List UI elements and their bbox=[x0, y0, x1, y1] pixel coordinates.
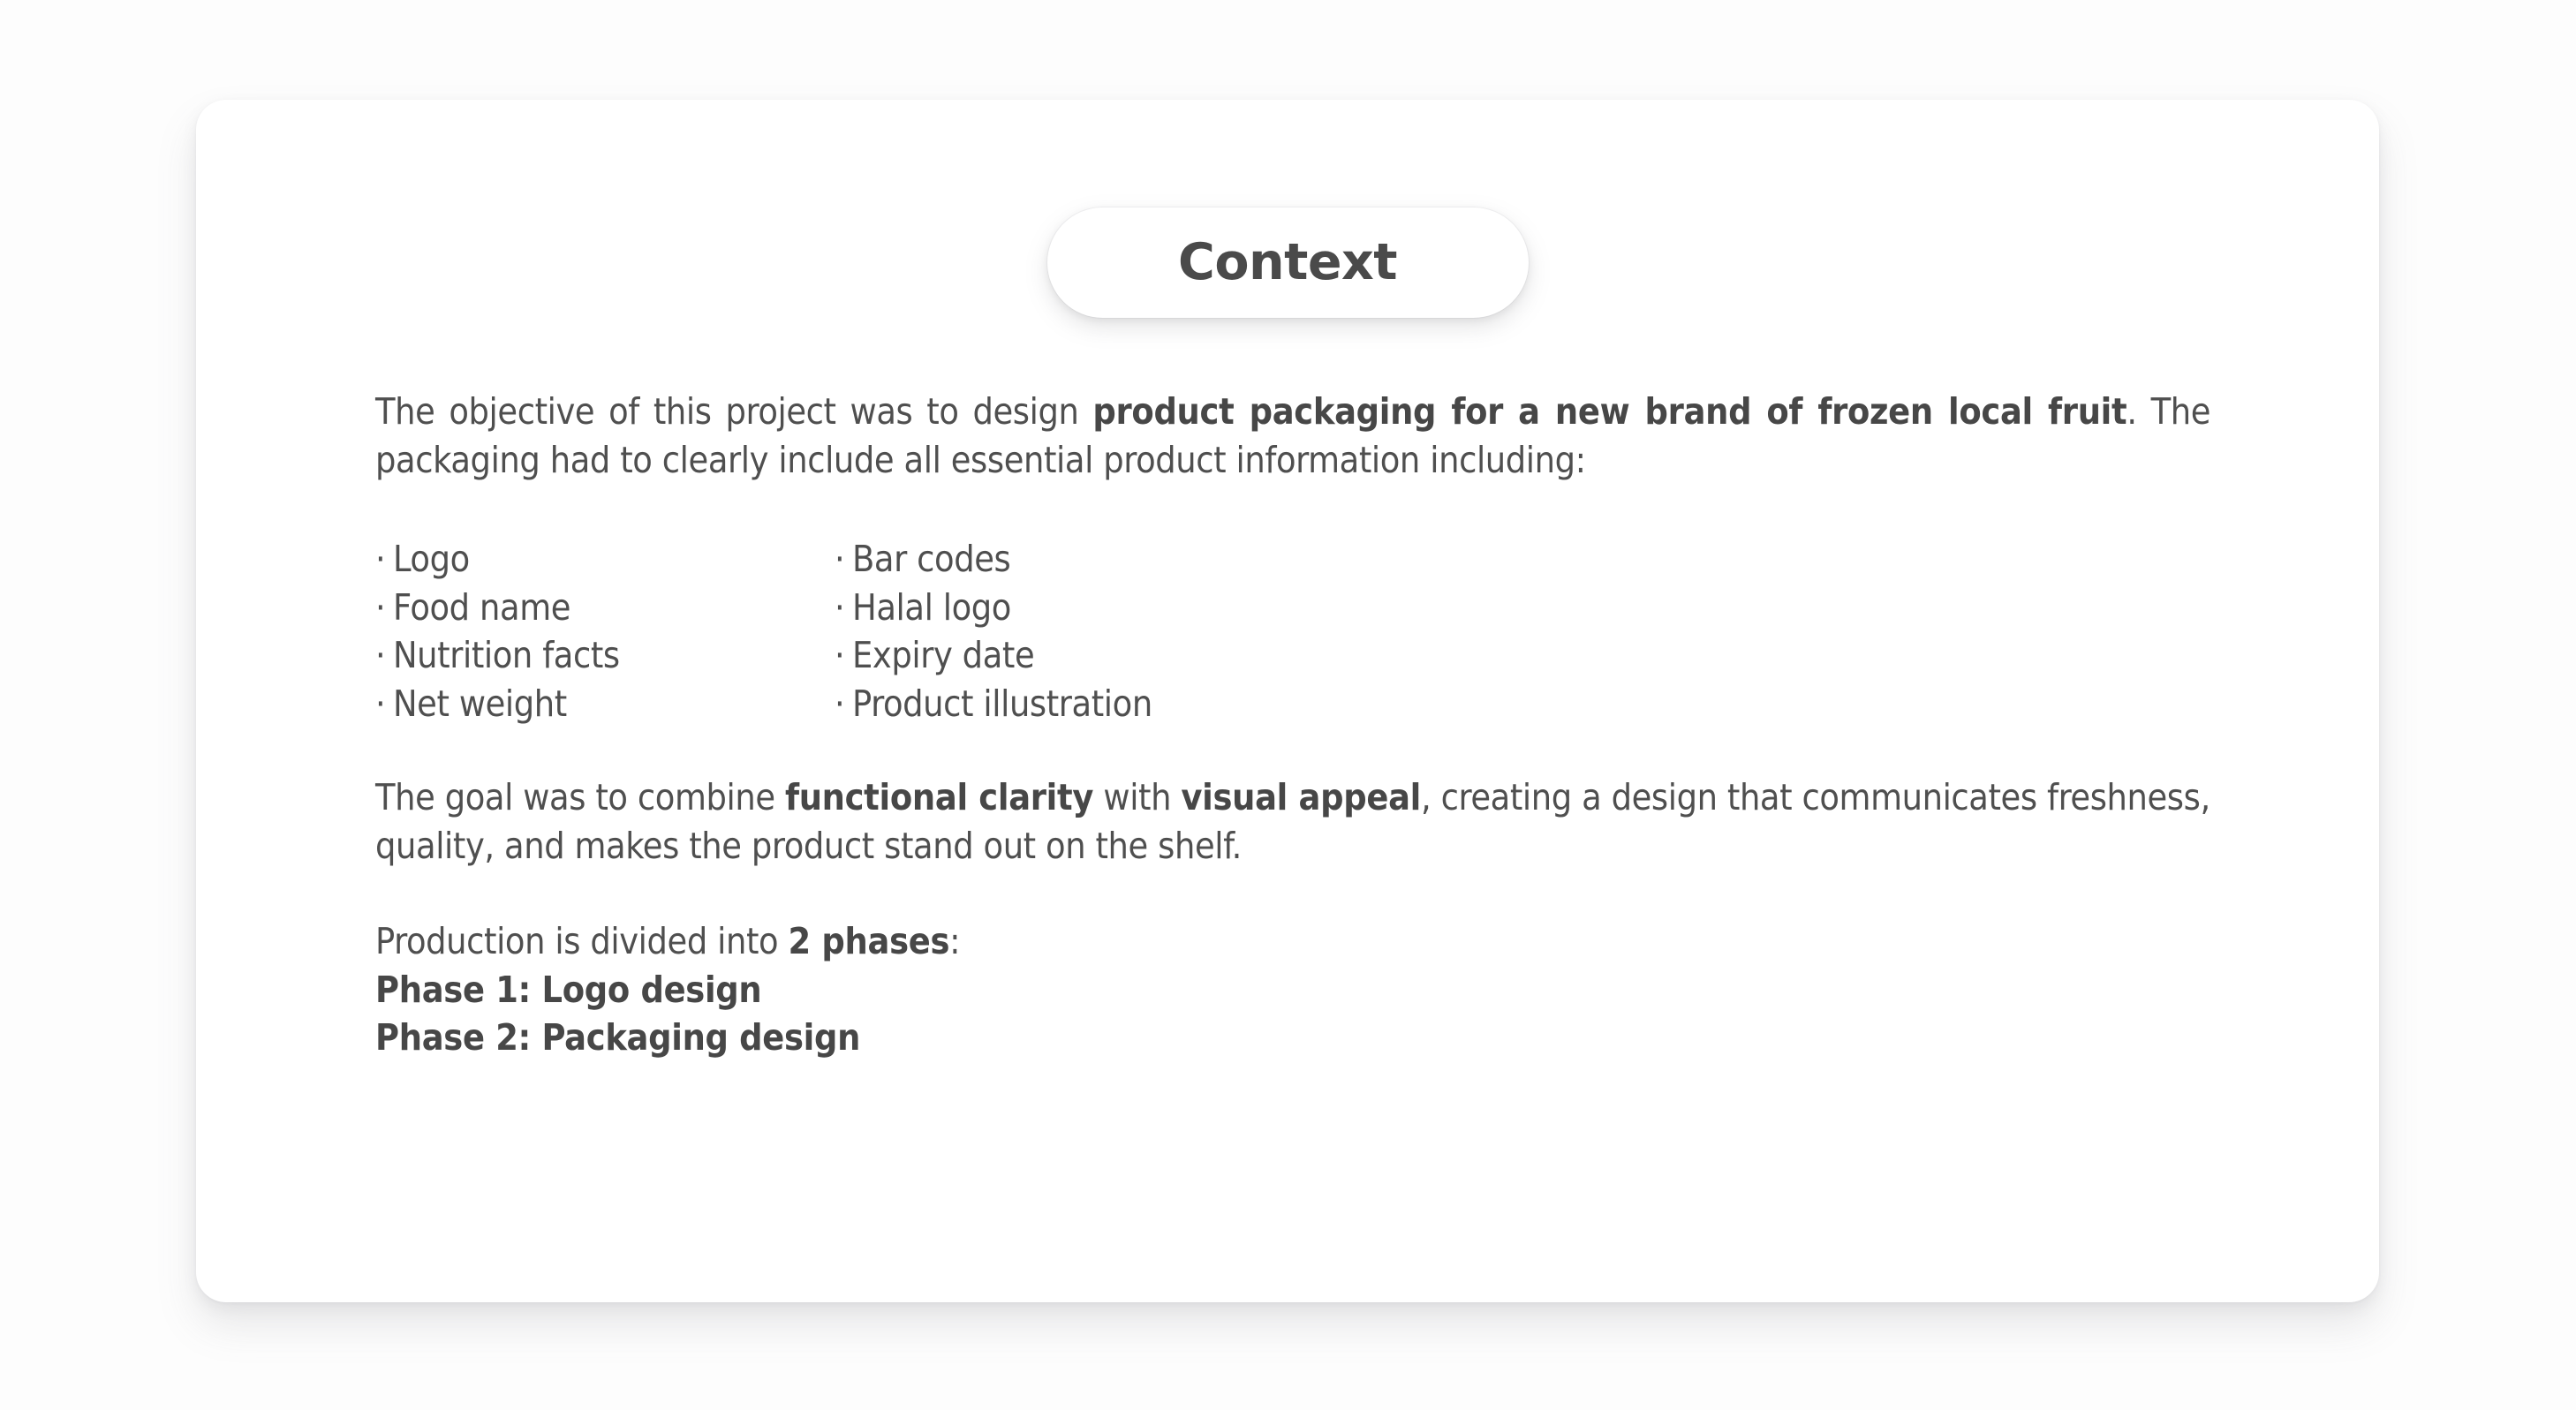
phase-2-line: Phase 2: Packaging design bbox=[375, 1014, 2210, 1062]
production-lead-bold: 2 phases bbox=[789, 920, 950, 962]
bullet-icon: · bbox=[835, 584, 852, 632]
context-title-pill: Context bbox=[1047, 207, 1529, 318]
list-item: ·Nutrition facts bbox=[375, 631, 835, 680]
page-root: Context The objective of this project wa… bbox=[0, 0, 2576, 1410]
requirements-lists: ·Logo ·Food name ·Nutrition facts ·Net w… bbox=[375, 535, 2210, 728]
goal-paragraph: The goal was to combine functional clari… bbox=[375, 773, 2210, 870]
list-item-label: Nutrition facts bbox=[393, 634, 620, 676]
bullet-icon: · bbox=[375, 680, 393, 728]
bullet-icon: · bbox=[835, 535, 852, 584]
list-item-label: Bar codes bbox=[852, 538, 1010, 580]
goal-bold-functional-clarity: functional clarity bbox=[785, 776, 1093, 818]
list-item: ·Food name bbox=[375, 584, 835, 632]
phase-1-line: Phase 1: Logo design bbox=[375, 966, 2210, 1014]
bullet-icon: · bbox=[375, 631, 393, 680]
page-title: Context bbox=[1178, 238, 1397, 288]
list-item-label: Logo bbox=[393, 538, 470, 580]
list-item-label: Expiry date bbox=[852, 634, 1034, 676]
list-item-label: Net weight bbox=[393, 682, 567, 725]
intro-paragraph: The objective of this project was to des… bbox=[375, 388, 2210, 484]
bullet-icon: · bbox=[835, 680, 852, 728]
card-header: Context bbox=[196, 207, 2379, 318]
goal-text-part-1: The goal was to combine bbox=[375, 776, 785, 818]
list-item: ·Net weight bbox=[375, 680, 835, 728]
requirements-column-right: ·Bar codes ·Halal logo ·Expiry date ·Pro… bbox=[835, 535, 1629, 728]
goal-text-part-2: with bbox=[1093, 776, 1181, 818]
card-body: The objective of this project was to des… bbox=[375, 388, 2210, 1062]
bullet-icon: · bbox=[375, 584, 393, 632]
list-item-label: Halal logo bbox=[852, 586, 1011, 629]
production-lead-part-2: : bbox=[949, 920, 960, 962]
spacer-before-goal bbox=[375, 728, 2210, 773]
goal-bold-visual-appeal: visual appeal bbox=[1181, 776, 1421, 818]
intro-text-part-1: The objective of this project was to des… bbox=[375, 390, 1092, 433]
production-lead-part-1: Production is divided into bbox=[375, 920, 789, 962]
list-item: ·Product illustration bbox=[835, 680, 1629, 728]
context-card: Context The objective of this project wa… bbox=[196, 100, 2379, 1302]
list-item-label: Food name bbox=[393, 586, 570, 629]
spacer-before-production bbox=[375, 870, 2210, 917]
bullet-icon: · bbox=[375, 535, 393, 584]
list-item: ·Bar codes bbox=[835, 535, 1629, 584]
requirements-column-left: ·Logo ·Food name ·Nutrition facts ·Net w… bbox=[375, 535, 835, 728]
production-lead: Production is divided into 2 phases: bbox=[375, 917, 2210, 966]
list-item: ·Halal logo bbox=[835, 584, 1629, 632]
list-item-label: Product illustration bbox=[852, 682, 1152, 725]
list-item: ·Logo bbox=[375, 535, 835, 584]
spacer-before-lists bbox=[375, 484, 2210, 535]
list-item: ·Expiry date bbox=[835, 631, 1629, 680]
intro-bold-emphasis: product packaging for a new brand of fro… bbox=[1092, 390, 2127, 433]
bullet-icon: · bbox=[835, 631, 852, 680]
